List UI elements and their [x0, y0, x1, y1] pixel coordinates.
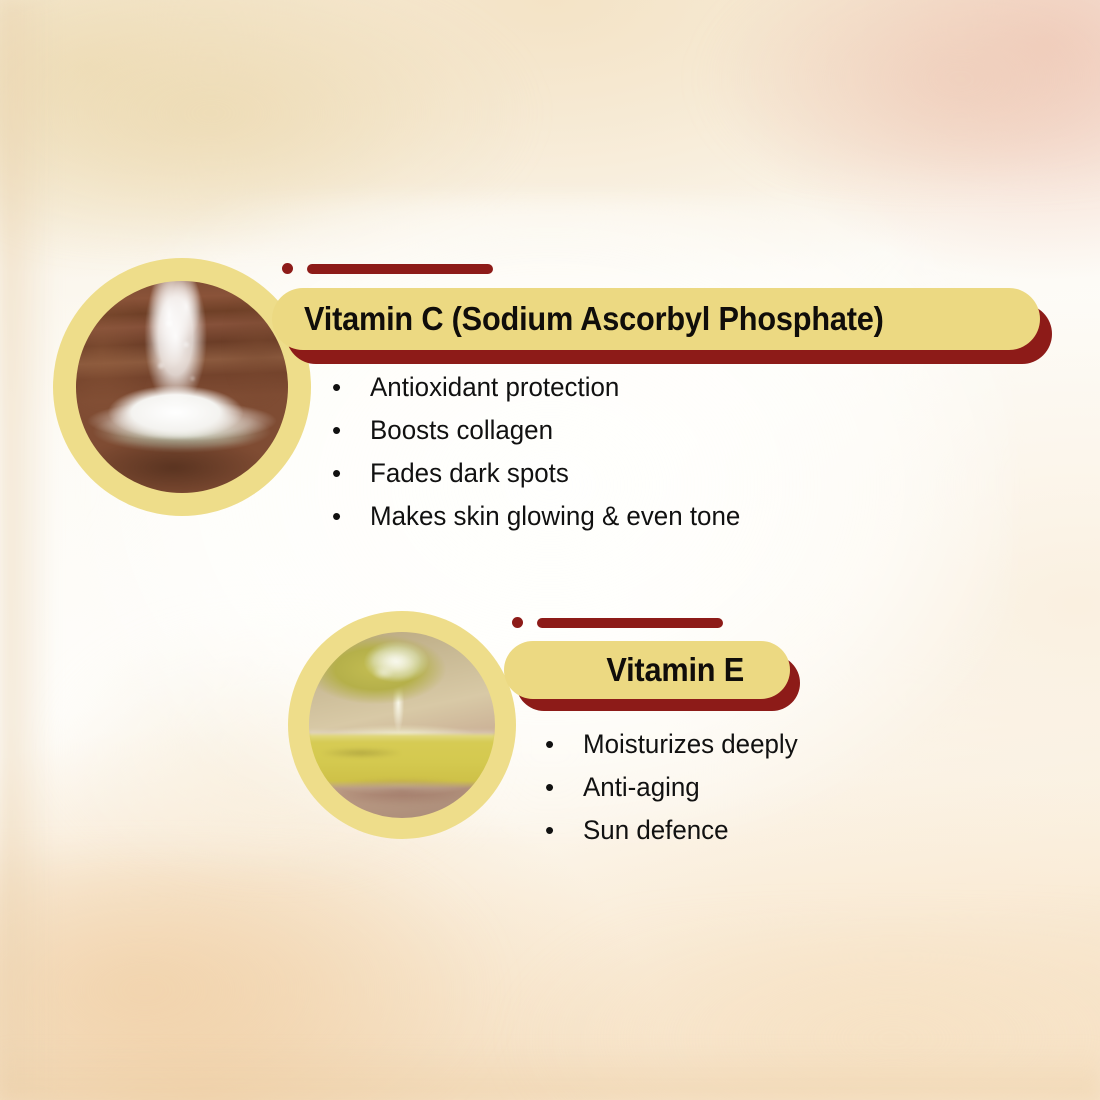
- decoration-dot-icon: [282, 263, 293, 274]
- vitamin-e-oil-photo: [309, 632, 495, 818]
- bullet-point-icon: •: [545, 731, 583, 757]
- list-item: • Fades dark spots: [332, 458, 756, 501]
- list-item-label: Fades dark spots: [370, 458, 569, 489]
- list-item: • Makes skin glowing & even tone: [332, 501, 756, 544]
- bullet-point-icon: •: [545, 817, 583, 843]
- decoration-dot-icon: [512, 617, 523, 628]
- list-item-label: Antioxidant protection: [370, 372, 619, 403]
- list-item-label: Makes skin glowing & even tone: [370, 501, 740, 532]
- bullet-point-icon: •: [545, 774, 583, 800]
- list-item-label: Moisturizes deeply: [583, 729, 798, 760]
- bullet-point-icon: •: [332, 417, 370, 443]
- list-item: • Moisturizes deeply: [545, 729, 807, 772]
- list-item: • Sun defence: [545, 815, 807, 858]
- decoration-dash-icon: [537, 618, 723, 628]
- vitamin-e-decoration: [512, 617, 723, 628]
- vitamin-c-powder-photo: [76, 281, 288, 493]
- list-item: • Anti-aging: [545, 772, 807, 815]
- bullet-point-icon: •: [332, 503, 370, 529]
- vitamin-e-image-ring: [288, 611, 516, 839]
- banner-face-layer: Vitamin E: [504, 641, 790, 699]
- banner-face-layer: Vitamin C (Sodium Ascorbyl Phosphate): [272, 288, 1040, 350]
- vitamin-c-title-banner: Vitamin C (Sodium Ascorbyl Phosphate): [272, 288, 1040, 350]
- vitamin-c-title: Vitamin C (Sodium Ascorbyl Phosphate): [304, 300, 884, 338]
- list-item: • Boosts collagen: [332, 415, 756, 458]
- vitamin-e-title-banner: Vitamin E: [504, 641, 790, 699]
- decoration-dash-icon: [307, 264, 493, 274]
- list-item-label: Boosts collagen: [370, 415, 553, 446]
- bullet-point-icon: •: [332, 460, 370, 486]
- list-item-label: Sun defence: [583, 815, 729, 846]
- bullet-point-icon: •: [332, 374, 370, 400]
- vitamin-e-benefit-list: • Moisturizes deeply • Anti-aging • Sun …: [545, 729, 807, 858]
- list-item-label: Anti-aging: [583, 772, 700, 803]
- list-item: • Antioxidant protection: [332, 372, 756, 415]
- vitamin-c-benefit-list: • Antioxidant protection • Boosts collag…: [332, 372, 756, 544]
- vitamin-e-title: Vitamin E: [606, 651, 744, 689]
- vitamin-c-decoration: [282, 263, 493, 274]
